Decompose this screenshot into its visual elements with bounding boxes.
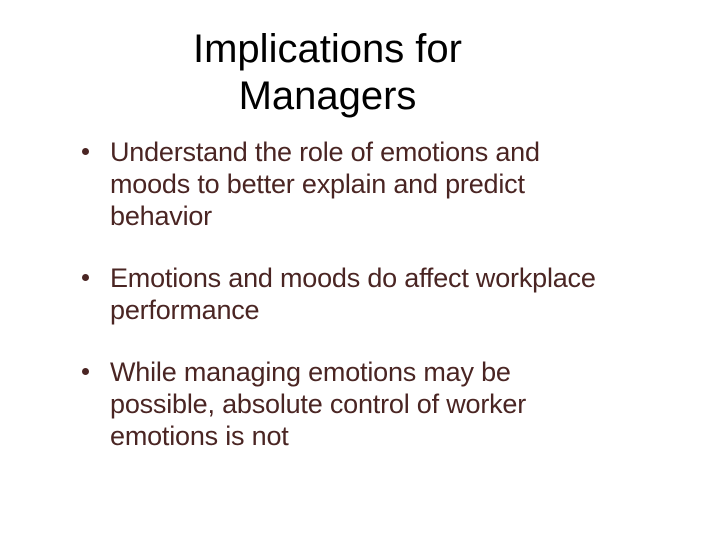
- bullet-item-1: Understand the role of emotions and mood…: [76, 136, 616, 232]
- presentation-slide: Implications for Managers Understand the…: [0, 0, 720, 540]
- slide-body-bullet-list: Understand the role of emotions and mood…: [76, 136, 616, 452]
- bullet-point-icon: [82, 274, 89, 281]
- bullet-item-2: Emotions and moods do affect workplace p…: [76, 262, 616, 326]
- bullet-item-1-text: Understand the role of emotions and mood…: [110, 136, 616, 232]
- bullet-point-icon: [82, 368, 89, 375]
- bullet-item-3-text: While managing emotions may be possible,…: [110, 356, 616, 452]
- slide-title-line-2: Managers: [0, 73, 655, 120]
- bullet-item-3: While managing emotions may be possible,…: [76, 356, 616, 452]
- bullet-point-icon: [82, 148, 89, 155]
- bullet-item-2-text: Emotions and moods do affect workplace p…: [110, 262, 616, 326]
- slide-title: Implications for Managers: [0, 26, 655, 120]
- slide-title-line-1: Implications for: [0, 26, 655, 73]
